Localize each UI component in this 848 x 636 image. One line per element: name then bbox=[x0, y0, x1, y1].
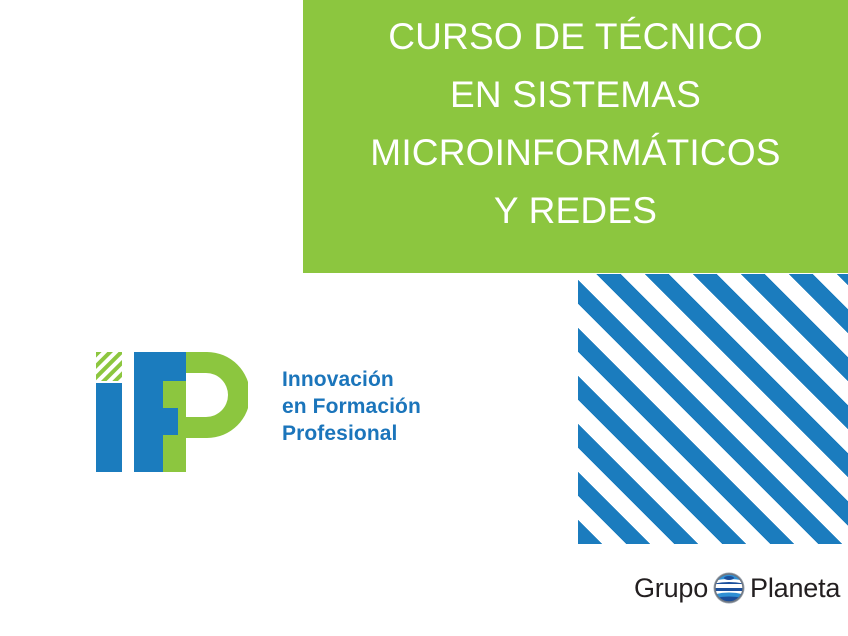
slide-canvas: CURSO DE TÉCNICO EN SISTEMAS MICROINFORM… bbox=[0, 0, 848, 636]
title-line-4: Y REDES bbox=[494, 182, 657, 240]
ifp-wordmark-line-1: Innovación bbox=[282, 366, 482, 393]
ifp-wordmark: Innovación en Formación Profesional bbox=[282, 366, 482, 447]
planeta-prefix-label: Grupo bbox=[634, 573, 708, 603]
planeta-suffix-label: Planeta bbox=[750, 573, 840, 603]
planeta-globe-icon bbox=[712, 571, 746, 605]
ifp-logo: Innovación en Formación Profesional bbox=[96, 352, 456, 478]
grupo-planeta-logo: Grupo Planeta bbox=[634, 566, 840, 610]
ifp-wordmark-line-2: en Formación bbox=[282, 393, 482, 420]
diagonal-stripes-pattern-icon bbox=[578, 274, 848, 544]
ifp-monogram-icon bbox=[96, 352, 248, 472]
title-line-3: MICROINFORMÁTICOS bbox=[370, 124, 780, 182]
title-line-1: CURSO DE TÉCNICO bbox=[388, 8, 763, 66]
title-banner: CURSO DE TÉCNICO EN SISTEMAS MICROINFORM… bbox=[303, 0, 848, 273]
title-line-2: EN SISTEMAS bbox=[450, 66, 701, 124]
ifp-wordmark-line-3: Profesional bbox=[282, 420, 482, 447]
